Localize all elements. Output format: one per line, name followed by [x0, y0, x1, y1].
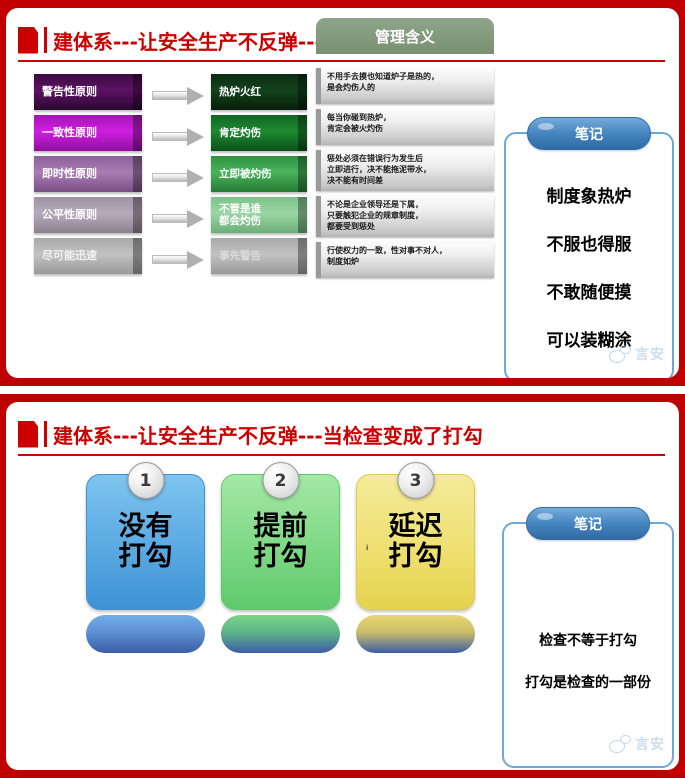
right-arrow-icon — [152, 129, 204, 143]
card-reflection — [221, 615, 340, 653]
slide-2: 建体系---让安全生产不反弹---当检查变成了打勾 1 没有打勾 2 提前打勾 — [0, 394, 685, 778]
wechat-watermark: 言安 — [609, 734, 665, 754]
principle-block: 尽可能迅速 — [34, 238, 142, 274]
principle-block: 即时性原则 — [34, 156, 142, 192]
notes-list: 制度象热炉 不服也得服 不敢随便摸 可以装糊涂 — [506, 182, 672, 351]
principle-block: 一致性原则 — [34, 115, 142, 151]
title-underline — [18, 454, 665, 456]
bookmark-flag-icon — [18, 27, 38, 54]
slide-2-body: 1 没有打勾 2 提前打勾 3 i — [6, 460, 679, 770]
notes-panel: 笔记 检查不等于打勾 打勾是检查的一部份 — [502, 522, 674, 768]
stove-block: 肯定灼伤 — [211, 115, 307, 151]
title-divider-icon — [44, 27, 47, 53]
notes-panel-header: 笔记 — [526, 507, 650, 540]
arrow-slot — [152, 238, 208, 279]
principle-block: 警告性原则 — [34, 74, 142, 110]
page-title: 建体系---让安全生产不反弹---当检查变成了打勾 — [53, 420, 483, 449]
meaning-row: 不论是企业领导还是下属， 只要触犯企业的规章制度， 都要受到惩处 — [316, 196, 494, 237]
wechat-watermark: 言安 — [609, 344, 665, 364]
stray-mark: i — [366, 545, 368, 553]
arrow-slot — [152, 115, 208, 156]
slide-1: 建体系---让安全生产不反弹---热炉法则应用 警告性原则 一致性原则 即时性原… — [0, 0, 685, 386]
check-card-1: 1 没有打勾 — [86, 474, 205, 653]
slide-2-title-row: 建体系---让安全生产不反弹---当检查变成了打勾 — [18, 414, 665, 454]
card-reflection — [86, 615, 205, 653]
note-line: 不服也得服 — [547, 230, 632, 255]
notes-list: 检查不等于打勾 打勾是检查的一部份 — [504, 630, 672, 692]
stove-block: 不管是谁 都会灼伤 — [211, 197, 307, 233]
arrow-slot — [152, 74, 208, 115]
arrow-column — [152, 74, 208, 279]
meaning-panel-rows: 不用手去摸也知道炉子是热的， 是会灼伤人的 每当你碰到热炉， 肯定会被火灼伤 惩… — [316, 54, 494, 278]
card-number-badge: 3 — [397, 462, 434, 499]
stove-block: 事先警告 — [211, 238, 307, 274]
card-text: 没有打勾 — [119, 512, 173, 572]
meaning-panel-header: 管理含义 — [316, 18, 494, 54]
card-text: 延迟打勾 — [389, 512, 443, 572]
right-arrow-icon — [152, 170, 204, 184]
note-line: 不敢随便摸 — [547, 278, 632, 303]
right-arrow-icon — [152, 252, 204, 266]
right-arrow-icon — [152, 211, 204, 225]
stove-block: 立即被灼伤 — [211, 156, 307, 192]
note-line: 制度象热炉 — [547, 182, 632, 207]
principle-block: 公平性原则 — [34, 197, 142, 233]
note-line: 检查不等于打勾 — [539, 630, 637, 650]
bookmark-flag-icon — [18, 421, 38, 448]
check-card-2: 2 提前打勾 — [221, 474, 340, 653]
watermark-text: 言安 — [635, 734, 665, 754]
notes-panel-header: 笔记 — [527, 117, 651, 150]
check-card-3: 3 i 延迟打勾 — [356, 474, 475, 653]
meaning-row: 不用手去摸也知道炉子是热的， 是会灼伤人的 — [316, 68, 494, 104]
stove-block: 热炉火红 — [211, 74, 307, 110]
wechat-logo-icon — [609, 735, 631, 753]
card-number-badge: 1 — [127, 462, 164, 499]
watermark-text: 言安 — [635, 344, 665, 364]
slide-2-canvas: 建体系---让安全生产不反弹---当检查变成了打勾 1 没有打勾 2 提前打勾 — [6, 402, 679, 770]
wechat-logo-icon — [609, 345, 631, 363]
title-divider-icon — [44, 421, 47, 447]
right-arrow-icon — [152, 88, 204, 102]
note-line: 打勾是检查的一部份 — [525, 672, 651, 692]
slide-1-canvas: 建体系---让安全生产不反弹---热炉法则应用 警告性原则 一致性原则 即时性原… — [6, 8, 679, 378]
arrow-slot — [152, 197, 208, 238]
card-text: 提前打勾 — [254, 512, 308, 572]
meaning-row: 行使权力的一致，性对事不对人， 制度如炉 — [316, 242, 494, 278]
card-number-badge: 2 — [262, 462, 299, 499]
slide-1-body: 警告性原则 一致性原则 即时性原则 公平性原则 尽可能迅速 — [6, 66, 679, 378]
meaning-row: 每当你碰到热炉， 肯定会被火灼伤 — [316, 109, 494, 145]
principles-column: 警告性原则 一致性原则 即时性原则 公平性原则 尽可能迅速 — [34, 74, 142, 279]
meaning-panel: 管理含义 不用手去摸也知道炉子是热的， 是会灼伤人的 每当你碰到热炉， 肯定会被… — [316, 18, 494, 283]
meaning-row: 惩处必须在错误行为发生后 立即进行，决不能拖泥带水， 决不能有时间差 — [316, 150, 494, 191]
stove-column: 热炉火红 肯定灼伤 立即被灼伤 不管是谁 都会灼伤 事先警告 — [211, 74, 307, 279]
card-reflection — [356, 615, 475, 653]
slide-deck: 建体系---让安全生产不反弹---热炉法则应用 警告性原则 一致性原则 即时性原… — [0, 0, 685, 778]
notes-panel: 笔记 制度象热炉 不服也得服 不敢随便摸 可以装糊涂 — [504, 132, 674, 378]
arrow-slot — [152, 156, 208, 197]
